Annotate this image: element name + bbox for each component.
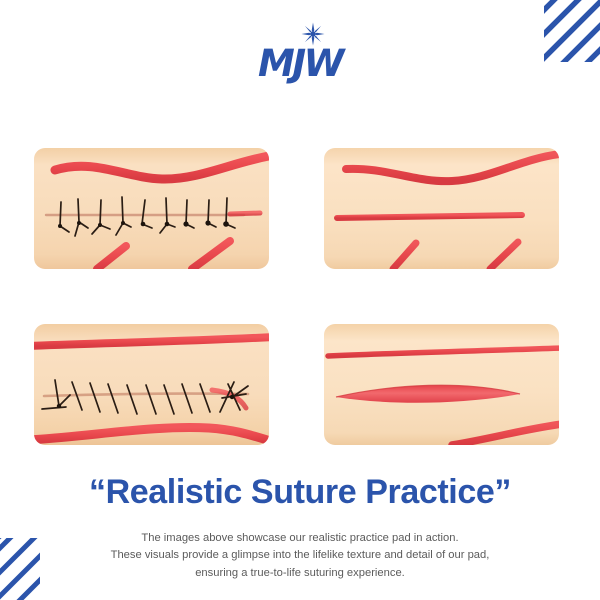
suture-pad-running <box>34 324 269 445</box>
pad-surface <box>324 324 559 445</box>
suture-pad-plain <box>324 148 559 269</box>
suture-pad-interrupted <box>34 148 269 269</box>
logo-wordmark: MJW <box>235 45 365 82</box>
logo-mark: MJW <box>235 22 365 84</box>
caption-block: The images above showcase our realistic … <box>0 530 600 582</box>
page-title: “Realistic Suture Practice” <box>0 474 600 511</box>
suture-pad-gallery <box>34 148 566 445</box>
suture-pad-open-incision <box>324 324 559 445</box>
caption-line-1: The images above showcase our realistic … <box>0 530 600 547</box>
caption-line-3: ensuring a true-to-life suturing experie… <box>0 565 600 582</box>
brand-logo: MJW <box>0 18 600 88</box>
caption-line-2: These visuals provide a glimpse into the… <box>0 547 600 564</box>
